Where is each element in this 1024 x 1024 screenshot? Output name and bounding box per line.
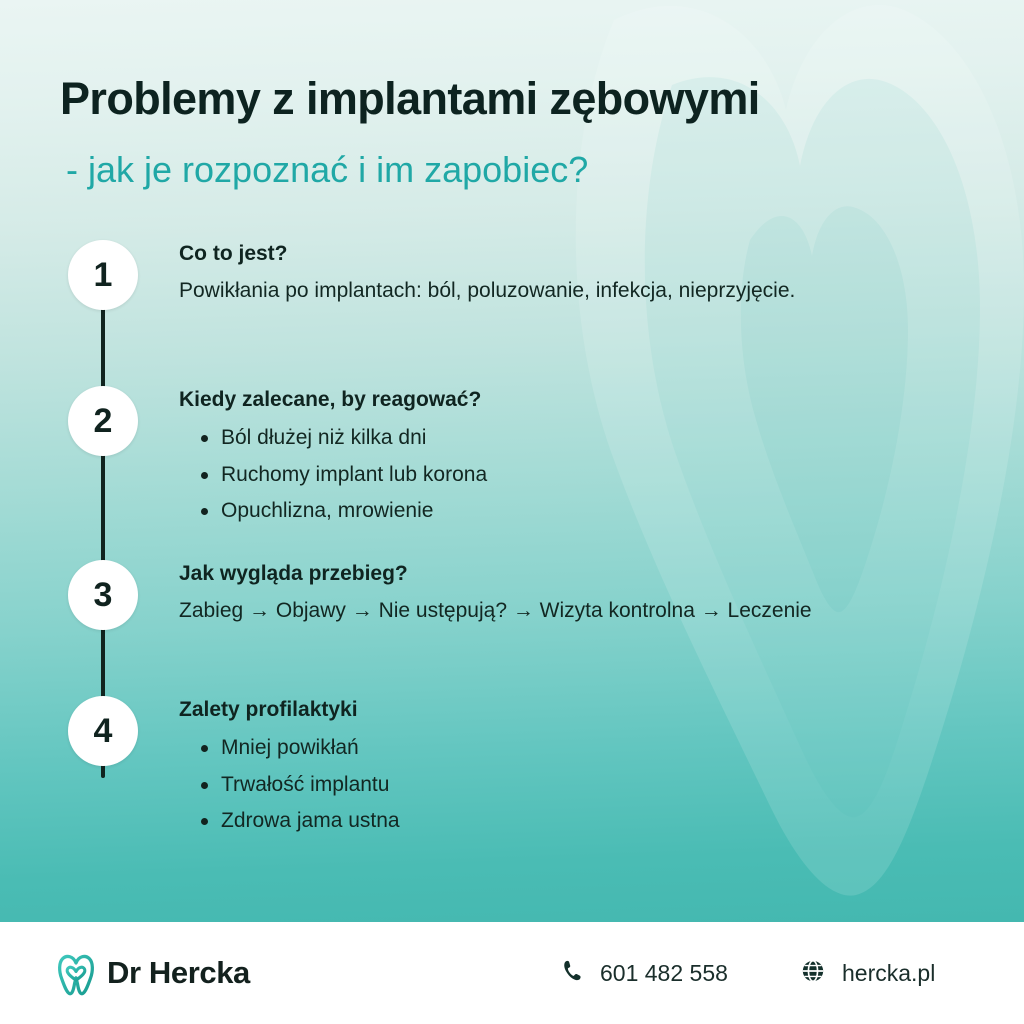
brand-name: Dr Hercka (107, 955, 250, 991)
step-bullet-item: Trwałość implantu (197, 767, 949, 804)
phone-contact[interactable]: 601 482 558 (560, 958, 728, 989)
page-title: Problemy z implantami zębowymi (60, 72, 990, 125)
step-body: Zalety profilaktyki Mniej powikłańTrwało… (179, 696, 949, 840)
step-body: Co to jest? Powikłania po implantach: bó… (179, 240, 949, 308)
step-number-badge: 2 (68, 386, 138, 456)
step-number-badge: 3 (68, 560, 138, 630)
step-bullet-item: Mniej powikłań (197, 730, 949, 767)
step-bullet-list: Mniej powikłańTrwałość implantuZdrowa ja… (179, 730, 949, 840)
step-text: Zabieg → Objawy → Nie ustępują? → Wizyta… (179, 594, 869, 628)
step-body: Kiedy zalecane, by reagować? Ból dłużej … (179, 386, 949, 530)
step-heading: Jak wygląda przebieg? (179, 560, 949, 588)
step-bullet-list: Ból dłużej niż kilka dniRuchomy implant … (179, 420, 949, 530)
steps-timeline: 1 Co to jest? Powikłania po implantach: … (68, 240, 968, 880)
phone-number: 601 482 558 (600, 960, 728, 987)
tooth-heart-logo-icon (55, 950, 97, 996)
globe-icon (800, 958, 826, 989)
step-body: Jak wygląda przebieg? Zabieg → Objawy → … (179, 560, 949, 628)
step-heading: Kiedy zalecane, by reagować? (179, 386, 949, 414)
page-subtitle: - jak je rozpoznać i im zapobiec? (66, 148, 996, 191)
website-url: hercka.pl (842, 960, 935, 987)
step-heading: Zalety profilaktyki (179, 696, 949, 724)
infographic-canvas: Problemy z implantami zębowymi - jak je … (0, 0, 1024, 1024)
step-number-badge: 1 (68, 240, 138, 310)
step-bullet-item: Zdrowa jama ustna (197, 803, 949, 840)
step-bullet-item: Ruchomy implant lub korona (197, 457, 949, 494)
step-number-badge: 4 (68, 696, 138, 766)
footer-bar: Dr Hercka 601 482 558 hercka.pl (0, 922, 1024, 1024)
step-bullet-item: Opuchlizna, mrowienie (197, 493, 949, 530)
website-contact[interactable]: hercka.pl (800, 958, 935, 989)
phone-icon (560, 958, 586, 989)
brand-logo[interactable]: Dr Hercka (55, 950, 250, 996)
step-bullet-item: Ból dłużej niż kilka dni (197, 420, 949, 457)
step-text: Powikłania po implantach: ból, poluzowan… (179, 274, 869, 308)
step-heading: Co to jest? (179, 240, 949, 268)
